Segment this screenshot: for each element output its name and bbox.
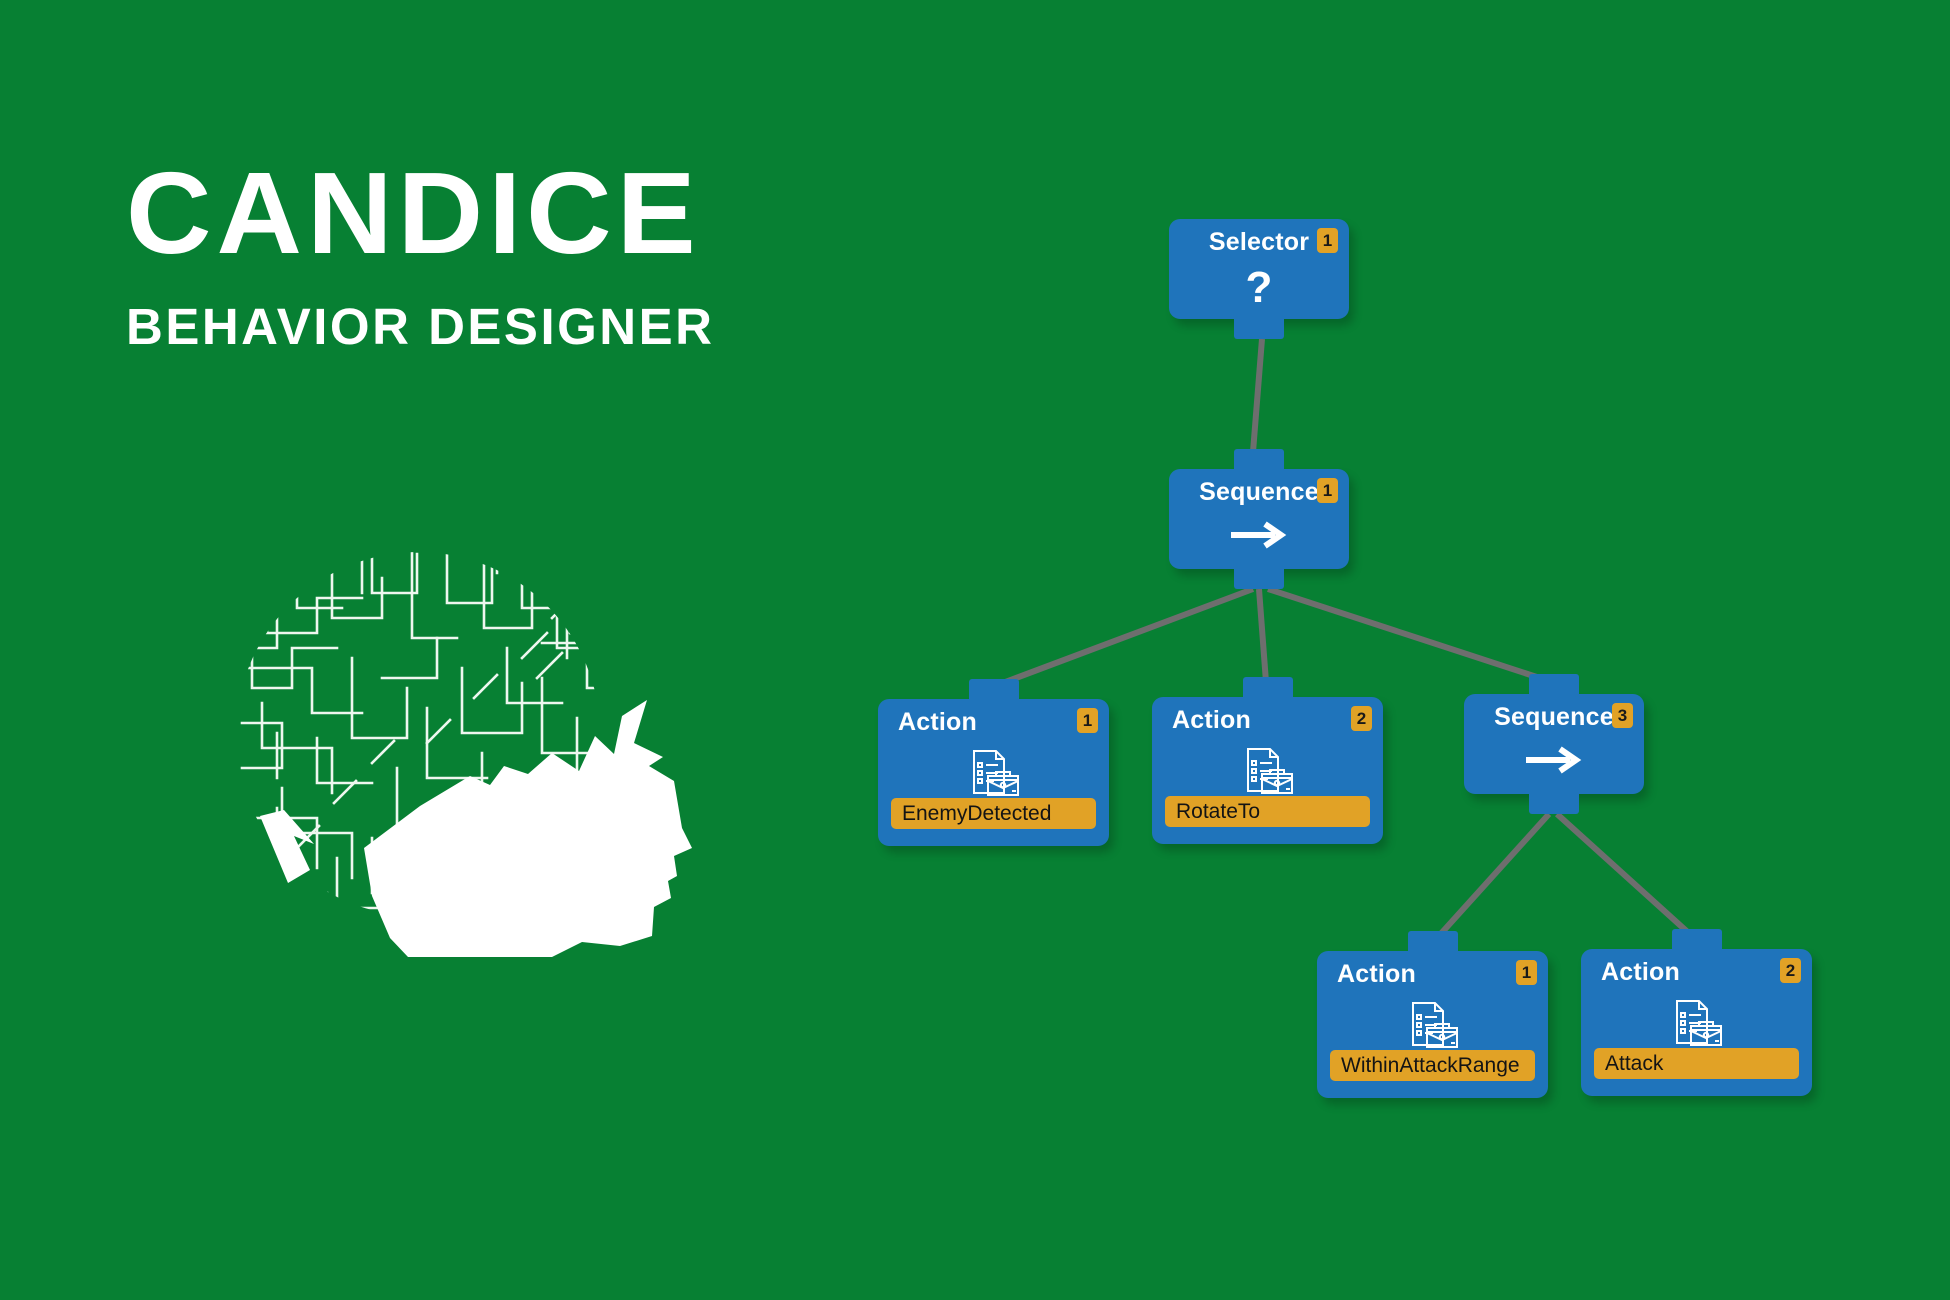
behavior-tree: Selector 1 ? Sequence 1 Act <box>0 0 1950 1300</box>
edge-sequence1-action2 <box>1259 589 1266 682</box>
node-index-badge: 2 <box>1780 958 1801 983</box>
right-arrow-icon <box>1464 745 1644 775</box>
action-task-label[interactable]: RotateTo <box>1165 796 1370 827</box>
node-title: Sequence <box>1199 480 1319 505</box>
node-index-badge: 1 <box>1317 228 1338 253</box>
right-arrow-icon <box>1169 520 1349 550</box>
node-header: Action 2 <box>1581 949 1812 994</box>
action-task-label[interactable]: WithinAttackRange <box>1330 1050 1535 1081</box>
node-connector-tab-bottom[interactable] <box>1234 567 1284 589</box>
node-action-rotateto[interactable]: Action 2 <box>1152 697 1383 844</box>
node-sequence-1[interactable]: Sequence 1 <box>1169 469 1349 569</box>
node-action-attack[interactable]: Action 2 <box>1581 949 1812 1096</box>
node-header: Sequence 3 <box>1464 694 1644 739</box>
node-title: Action <box>1601 960 1680 985</box>
node-index-badge: 1 <box>1516 960 1537 985</box>
node-title: Action <box>898 710 977 735</box>
node-selector[interactable]: Selector 1 ? <box>1169 219 1349 319</box>
node-connector-tab-bottom[interactable] <box>1529 792 1579 814</box>
document-briefcase-icon <box>1317 1000 1548 1052</box>
node-index-badge: 1 <box>1077 708 1098 733</box>
edge-sequence3-action3 <box>1437 814 1549 938</box>
node-title: Sequence <box>1494 705 1614 730</box>
node-connector-tab-top[interactable] <box>1408 931 1458 953</box>
node-connector-tab-bottom[interactable] <box>1234 317 1284 339</box>
node-header: Action 1 <box>1317 951 1548 996</box>
document-briefcase-icon <box>1152 746 1383 798</box>
node-action-enemydetected[interactable]: Action 1 <box>878 699 1109 846</box>
node-title: Action <box>1337 962 1416 987</box>
node-title: Selector <box>1209 230 1309 255</box>
node-index-badge: 2 <box>1351 706 1372 731</box>
edge-selector-sequence1 <box>1253 339 1262 452</box>
node-connector-tab-top[interactable] <box>1234 449 1284 471</box>
node-index-badge: 1 <box>1317 478 1338 503</box>
node-header: Action 2 <box>1152 697 1383 742</box>
canvas: CANDICE BEHAVIOR DESIGNER <box>0 0 1950 1300</box>
document-briefcase-icon <box>878 748 1109 800</box>
edge-sequence3-action4 <box>1557 814 1692 936</box>
edge-sequence1-sequence3 <box>1268 589 1546 680</box>
tree-edges <box>0 0 1950 1300</box>
node-header: Action 1 <box>878 699 1109 744</box>
edge-sequence1-action1 <box>1000 589 1253 684</box>
question-mark-icon: ? <box>1169 266 1349 310</box>
node-connector-tab-top[interactable] <box>1243 677 1293 699</box>
action-task-label[interactable]: EnemyDetected <box>891 798 1096 829</box>
node-sequence-3[interactable]: Sequence 3 <box>1464 694 1644 794</box>
node-connector-tab-top[interactable] <box>1529 674 1579 696</box>
node-header: Sequence 1 <box>1169 469 1349 514</box>
node-title: Action <box>1172 708 1251 733</box>
node-connector-tab-top[interactable] <box>1672 929 1722 951</box>
node-action-withinattackrange[interactable]: Action 1 <box>1317 951 1548 1098</box>
document-briefcase-icon <box>1581 998 1812 1050</box>
node-header: Selector 1 <box>1169 219 1349 264</box>
node-index-badge: 3 <box>1612 703 1633 728</box>
action-task-label[interactable]: Attack <box>1594 1048 1799 1079</box>
node-connector-tab-top[interactable] <box>969 679 1019 701</box>
